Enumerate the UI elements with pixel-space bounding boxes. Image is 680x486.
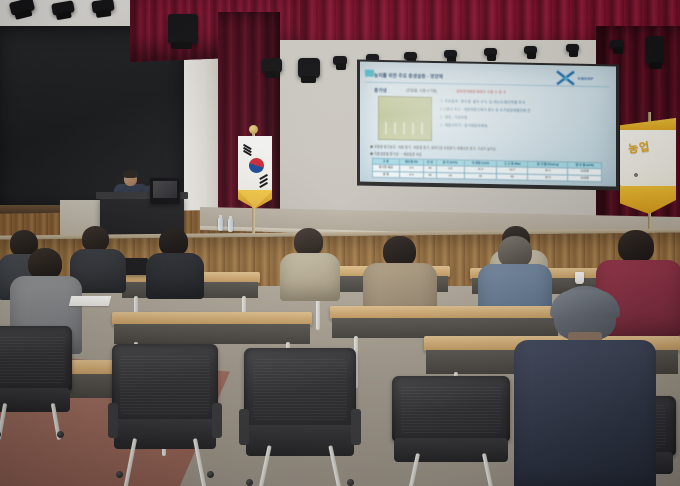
stage-spotlight-icon	[404, 52, 417, 60]
chair-mesh	[253, 359, 347, 420]
attendee-head	[294, 228, 323, 256]
chair-mesh	[120, 355, 209, 414]
slide-data-table: 구 분질소질 (N)인 산칼 리 (K2O)석 회질 (CaO)고 고 종 (M…	[372, 158, 602, 182]
logo-text: KBDSP	[578, 76, 594, 81]
table-cell: 15	[464, 173, 497, 180]
slide-note: ◆ 지분성분별 총가냉 ··· 제량표준 보표	[370, 151, 422, 157]
attendee-torso	[514, 340, 656, 486]
attendee-head	[159, 228, 188, 256]
chair-armrest	[108, 403, 118, 438]
stage-spotlight-icon	[333, 56, 347, 65]
logo-icon	[556, 70, 576, 86]
chair-mesh	[401, 385, 500, 433]
paper-cup	[575, 272, 584, 284]
slide-line: ▷ 생육 : 각성보중	[440, 115, 467, 121]
water-bottle	[228, 219, 233, 232]
stage-spotlight-icon	[484, 48, 497, 56]
chair-caster	[116, 471, 123, 478]
table-cell: 25.5	[528, 174, 568, 181]
slide-title: 농지를 위한 주요 충생살충 - 영양제	[374, 73, 443, 80]
chair-caster	[347, 479, 354, 486]
flag-finial-icon	[249, 125, 258, 134]
stage-spotlight-icon	[566, 44, 579, 52]
slide-bullet-heading: 총가냉	[374, 88, 387, 94]
chair-armrest	[351, 409, 361, 445]
table-cell: 40	[424, 172, 437, 179]
slide-note: ◆ 포함량 증가효과 : 재량 증가 · 배분충 증가, 생육지표 보충증가, …	[370, 144, 496, 151]
chair-armrest	[239, 409, 249, 445]
slide-line: ▷ 주요효과 : 증수량, 발아 수식, 잎 재는도/증진작용 무식	[440, 99, 525, 106]
chair-caster	[207, 471, 214, 478]
slide-bullet-heading-emphasis: 생육제재배분재배의 사용 수 분 수	[456, 89, 506, 95]
attendee-navy-jacket-cap	[520, 286, 650, 486]
chair-seat	[246, 425, 354, 455]
office-chair[interactable]	[244, 348, 356, 486]
attendee-head	[618, 230, 654, 263]
chair-caster	[246, 479, 253, 486]
attendee-torso	[280, 253, 340, 301]
attendee-torso	[146, 253, 204, 299]
presenter-hair	[123, 170, 138, 178]
stage-spotlight-icon	[298, 58, 320, 78]
list-item	[150, 228, 204, 292]
presenter-monitor-screen	[153, 181, 177, 198]
ceiling-light-icon	[9, 0, 35, 16]
stage-spotlight-icon	[524, 46, 537, 54]
stage-spotlight-icon	[262, 58, 282, 73]
slide-line: ▷ 재분서무기 : 장식제분보제배	[440, 123, 487, 129]
office-chair[interactable]	[392, 376, 510, 486]
chair-armrest	[212, 403, 222, 438]
table-cell: 생 육	[373, 171, 400, 178]
lecture-hall-photo: 1 농지를 위한 주요 충생살충 - 영양제 KBDSP 총가냉 (전일별, 사…	[0, 0, 680, 486]
stage-speaker-icon	[646, 36, 664, 64]
office-chair[interactable]	[0, 326, 72, 436]
slide-photo-thumbnail	[378, 96, 432, 141]
list-item	[282, 228, 340, 294]
table-cell: 60	[497, 173, 528, 180]
stage-spotlight-icon	[610, 40, 624, 49]
office-chair[interactable]	[112, 344, 218, 478]
table-cell: 0.3	[399, 171, 423, 178]
slide-title-accent	[365, 70, 374, 77]
table-apron	[114, 324, 310, 344]
chair-seat	[394, 438, 507, 462]
chair-seat	[0, 388, 70, 412]
projection-screen: 농지를 위한 주요 충생살충 - 영양제 KBDSP 총가냉 (전일별, 사용시…	[360, 62, 616, 187]
chair-caster	[57, 431, 64, 438]
chair-seat	[114, 419, 216, 448]
water-bottle	[218, 218, 223, 231]
paper-sheet	[69, 296, 111, 306]
slide-line: ▷ C증서 보고 : 재량제증진제가 증수 등 초가생장제증진제 관	[440, 107, 530, 114]
flag-emblem-icon	[628, 168, 644, 182]
stage-spotlight-icon	[444, 50, 457, 58]
table-cell: 15이하	[568, 175, 602, 182]
cap-icon	[550, 290, 620, 318]
table-cell: 10	[436, 172, 464, 179]
chair-mesh	[0, 335, 65, 383]
ceiling-speaker-icon	[168, 14, 198, 44]
slide-bullet-heading-sub: (전일별, 사용시기별)	[406, 88, 437, 94]
